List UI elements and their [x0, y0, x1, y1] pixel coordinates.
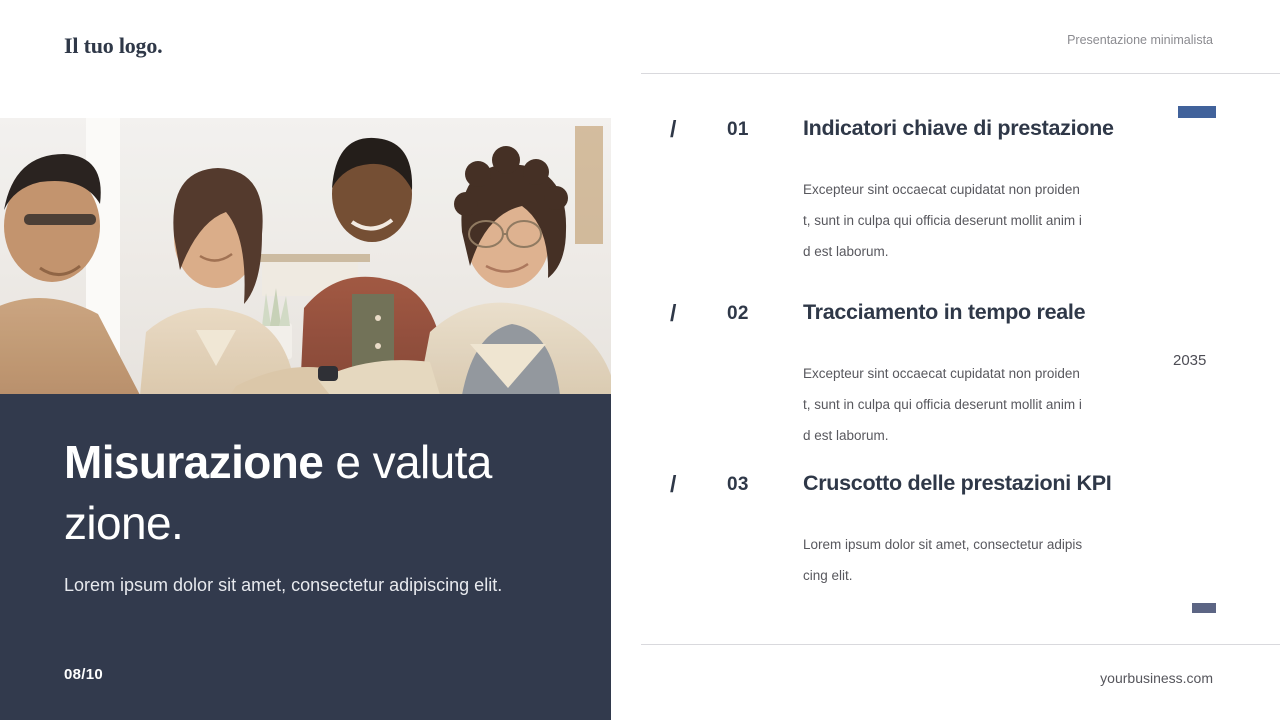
item-number: 01	[727, 120, 749, 139]
hero-photo	[0, 118, 611, 395]
slash-separator: /	[670, 302, 676, 325]
slash-separator: /	[670, 473, 676, 496]
slide-subtitle: Lorem ipsum dolor sit amet, consectetur …	[64, 570, 526, 601]
top-divider	[641, 73, 1280, 74]
bottom-divider	[641, 644, 1280, 645]
slide-title-strong: Misurazione	[64, 436, 323, 488]
item-body: Lorem ipsum dolor sit amet, consectetur …	[803, 529, 1085, 591]
item-number: 03	[727, 475, 749, 494]
item-title[interactable]: Indicatori chiave di prestazione	[803, 116, 1114, 142]
left-column: Il tuo logo.	[0, 0, 611, 720]
presentation-slide: Il tuo logo.	[0, 0, 1280, 720]
hero-photo-illustration	[0, 118, 611, 395]
item-title[interactable]: Tracciamento in tempo reale	[803, 300, 1085, 326]
item-body: Excepteur sint occaecat cupidatat non pr…	[803, 358, 1085, 451]
year-label: 2035	[1173, 352, 1206, 369]
accent-block-blue	[1178, 106, 1216, 118]
item-number: 02	[727, 304, 749, 323]
page-indicator: 08/10	[64, 666, 103, 683]
accent-block-slate	[1192, 603, 1216, 613]
item-title[interactable]: Cruscotto delle prestazioni KPI	[803, 471, 1111, 497]
slide-title: Misurazione e valutazione.	[64, 432, 504, 554]
footer-website[interactable]: yourbusiness.com	[1100, 670, 1213, 686]
item-body: Excepteur sint occaecat cupidatat non pr…	[803, 174, 1085, 267]
logo-text[interactable]: Il tuo logo.	[64, 33, 162, 59]
slash-separator: /	[670, 118, 676, 141]
header-caption: Presentazione minimalista	[1067, 33, 1213, 47]
right-column: Presentazione minimalista 2035 / 01 Indi…	[611, 0, 1280, 720]
